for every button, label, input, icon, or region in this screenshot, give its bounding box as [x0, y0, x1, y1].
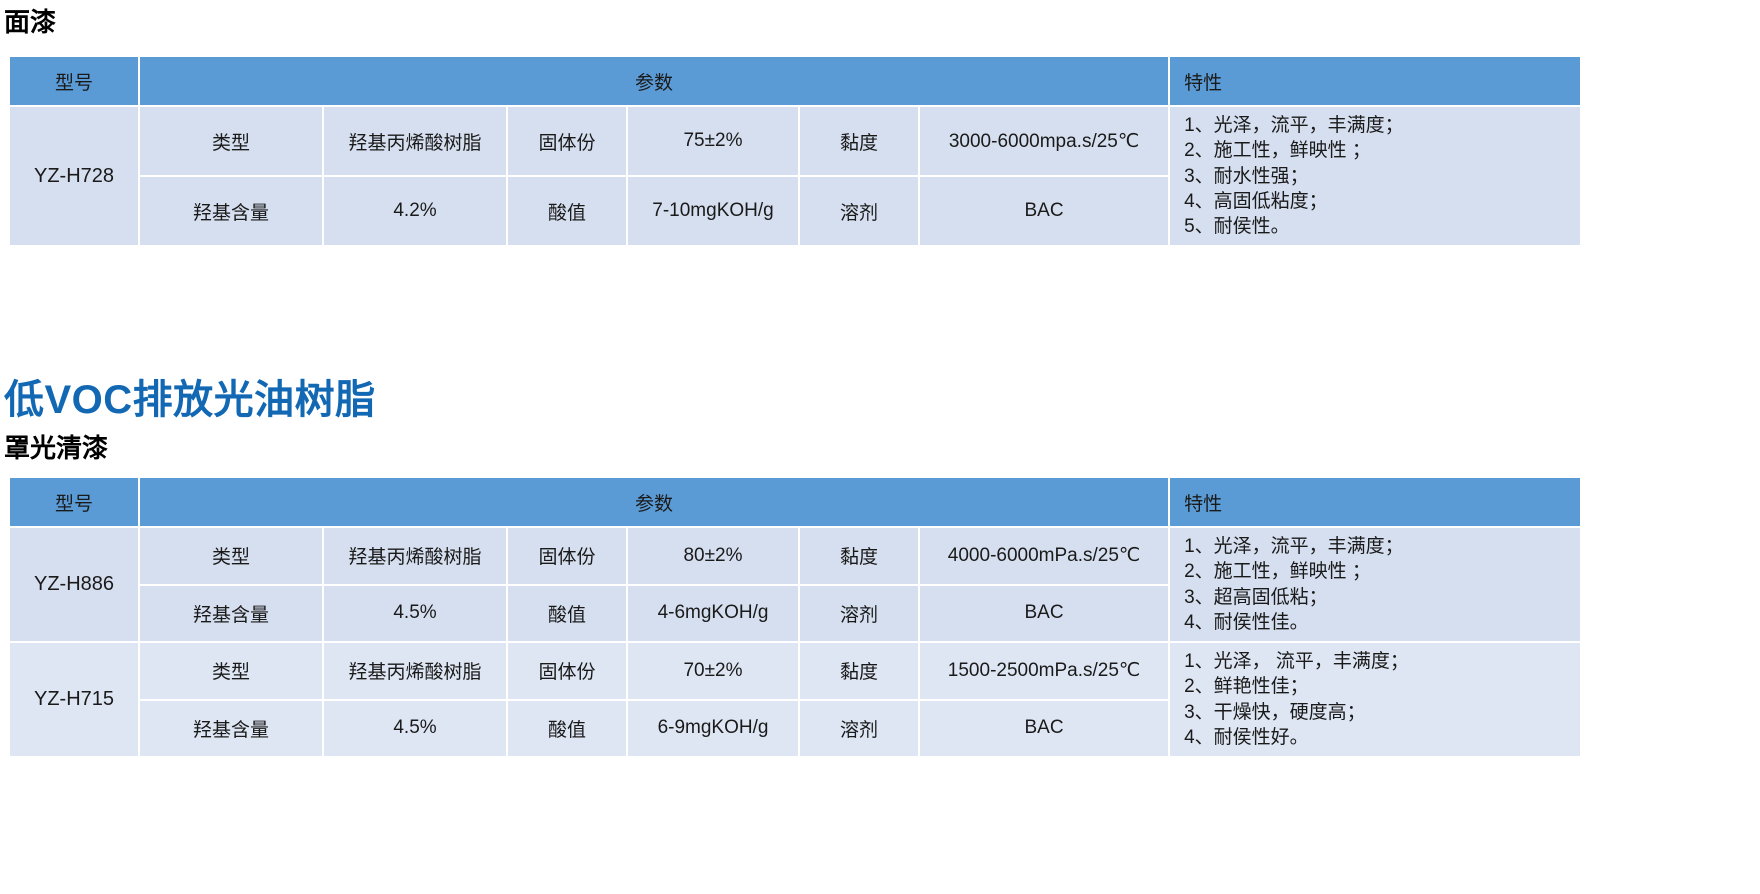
- topcoat-table-wrapper: 型号 参数 特性 YZ-H728 类型 羟基丙烯酸树脂 固体份 75±2% 黏度…: [8, 55, 1582, 247]
- cell-param-key: 黏度: [800, 528, 918, 584]
- feature-line: 1、光泽， 流平，丰满度；: [1184, 649, 1570, 674]
- cell-param-key: 固体份: [508, 528, 626, 584]
- cell-param-key: 羟基含量: [140, 701, 322, 757]
- column-header-parameters: 参数: [140, 57, 1168, 105]
- feature-line: 2、施工性，鲜映性 ；: [1184, 138, 1570, 163]
- cell-param-value: 4.5%: [324, 701, 506, 757]
- cell-param-key: 羟基含量: [140, 177, 322, 245]
- cell-param-key: 固体份: [508, 643, 626, 699]
- cell-param-value: 6-9mgKOH/g: [628, 701, 798, 757]
- column-header-features: 特性: [1170, 478, 1580, 526]
- cell-param-key: 类型: [140, 107, 322, 175]
- feature-line: 3、耐水性强；: [1184, 164, 1570, 189]
- feature-line: 1、光泽，流平，丰满度；: [1184, 113, 1570, 138]
- cell-param-value: 4.2%: [324, 177, 506, 245]
- table-header-row: 型号 参数 特性: [10, 478, 1580, 526]
- cell-param-key: 羟基含量: [140, 586, 322, 642]
- cell-features: 1、光泽，流平，丰满度； 2、施工性，鲜映性 ； 3、耐水性强； 4、高固低粘度…: [1170, 107, 1580, 245]
- cell-features: 1、光泽，流平，丰满度； 2、施工性，鲜映性 ； 3、超高固低粘； 4、耐侯性佳…: [1170, 528, 1580, 641]
- feature-line: 1、光泽，流平，丰满度；: [1184, 534, 1570, 559]
- cell-param-key: 固体份: [508, 107, 626, 175]
- feature-line: 3、干燥快，硬度高；: [1184, 700, 1570, 725]
- cell-param-value: BAC: [920, 701, 1168, 757]
- cell-param-key: 酸值: [508, 701, 626, 757]
- cell-param-value: 7-10mgKOH/g: [628, 177, 798, 245]
- cell-param-key: 类型: [140, 528, 322, 584]
- product-spec-page: 面漆 型号 参数 特性 YZ-H728 类型 羟基丙烯酸树脂 固体份: [0, 0, 1760, 894]
- cell-param-key: 黏度: [800, 643, 918, 699]
- cell-param-key: 溶剂: [800, 701, 918, 757]
- cell-param-value: 1500-2500mPa.s/25℃: [920, 643, 1168, 699]
- clearcoat-spec-table: 型号 参数 特性 YZ-H886 类型 羟基丙烯酸树脂 固体份 80±2% 黏度…: [8, 476, 1582, 758]
- cell-model: YZ-H886: [10, 528, 138, 641]
- feature-line: 3、超高固低粘；: [1184, 585, 1570, 610]
- table-row: YZ-H715 类型 羟基丙烯酸树脂 固体份 70±2% 黏度 1500-250…: [10, 643, 1580, 699]
- cell-model: YZ-H715: [10, 643, 138, 756]
- cell-param-value: 80±2%: [628, 528, 798, 584]
- feature-line: 4、耐侯性好。: [1184, 725, 1570, 750]
- cell-model: YZ-H728: [10, 107, 138, 245]
- cell-param-value: 70±2%: [628, 643, 798, 699]
- table-header-row: 型号 参数 特性: [10, 57, 1580, 105]
- cell-param-key: 黏度: [800, 107, 918, 175]
- feature-line: 5、耐侯性。: [1184, 214, 1570, 239]
- feature-line: 4、耐侯性佳。: [1184, 610, 1570, 635]
- column-header-parameters: 参数: [140, 478, 1168, 526]
- cell-param-key: 类型: [140, 643, 322, 699]
- cell-param-value: 羟基丙烯酸树脂: [324, 528, 506, 584]
- feature-line: 2、鲜艳性佳；: [1184, 674, 1570, 699]
- column-header-model: 型号: [10, 57, 138, 105]
- table-row: YZ-H886 类型 羟基丙烯酸树脂 固体份 80±2% 黏度 4000-600…: [10, 528, 1580, 584]
- section-title-topcoat: 面漆: [4, 8, 56, 37]
- cell-param-key: 酸值: [508, 177, 626, 245]
- column-header-model: 型号: [10, 478, 138, 526]
- clearcoat-table-wrapper: 型号 参数 特性 YZ-H886 类型 羟基丙烯酸树脂 固体份 80±2% 黏度…: [8, 476, 1582, 758]
- feature-line: 4、高固低粘度；: [1184, 189, 1570, 214]
- cell-param-value: BAC: [920, 586, 1168, 642]
- section-title-clearcoat: 罩光清漆: [4, 434, 108, 463]
- cell-param-value: 羟基丙烯酸树脂: [324, 643, 506, 699]
- cell-param-value: 3000-6000mpa.s/25℃: [920, 107, 1168, 175]
- cell-param-key: 溶剂: [800, 586, 918, 642]
- cell-param-value: 4000-6000mPa.s/25℃: [920, 528, 1168, 584]
- cell-param-key: 酸值: [508, 586, 626, 642]
- section-title-low-voc: 低VOC排放光油树脂: [4, 378, 376, 422]
- cell-features: 1、光泽， 流平，丰满度； 2、鲜艳性佳； 3、干燥快，硬度高； 4、耐侯性好。: [1170, 643, 1580, 756]
- cell-param-value: 4-6mgKOH/g: [628, 586, 798, 642]
- column-header-features: 特性: [1170, 57, 1580, 105]
- feature-line: 2、施工性，鲜映性 ；: [1184, 559, 1570, 584]
- cell-param-key: 溶剂: [800, 177, 918, 245]
- cell-param-value: BAC: [920, 177, 1168, 245]
- topcoat-spec-table: 型号 参数 特性 YZ-H728 类型 羟基丙烯酸树脂 固体份 75±2% 黏度…: [8, 55, 1582, 247]
- cell-param-value: 75±2%: [628, 107, 798, 175]
- cell-param-value: 4.5%: [324, 586, 506, 642]
- cell-param-value: 羟基丙烯酸树脂: [324, 107, 506, 175]
- table-row: YZ-H728 类型 羟基丙烯酸树脂 固体份 75±2% 黏度 3000-600…: [10, 107, 1580, 175]
